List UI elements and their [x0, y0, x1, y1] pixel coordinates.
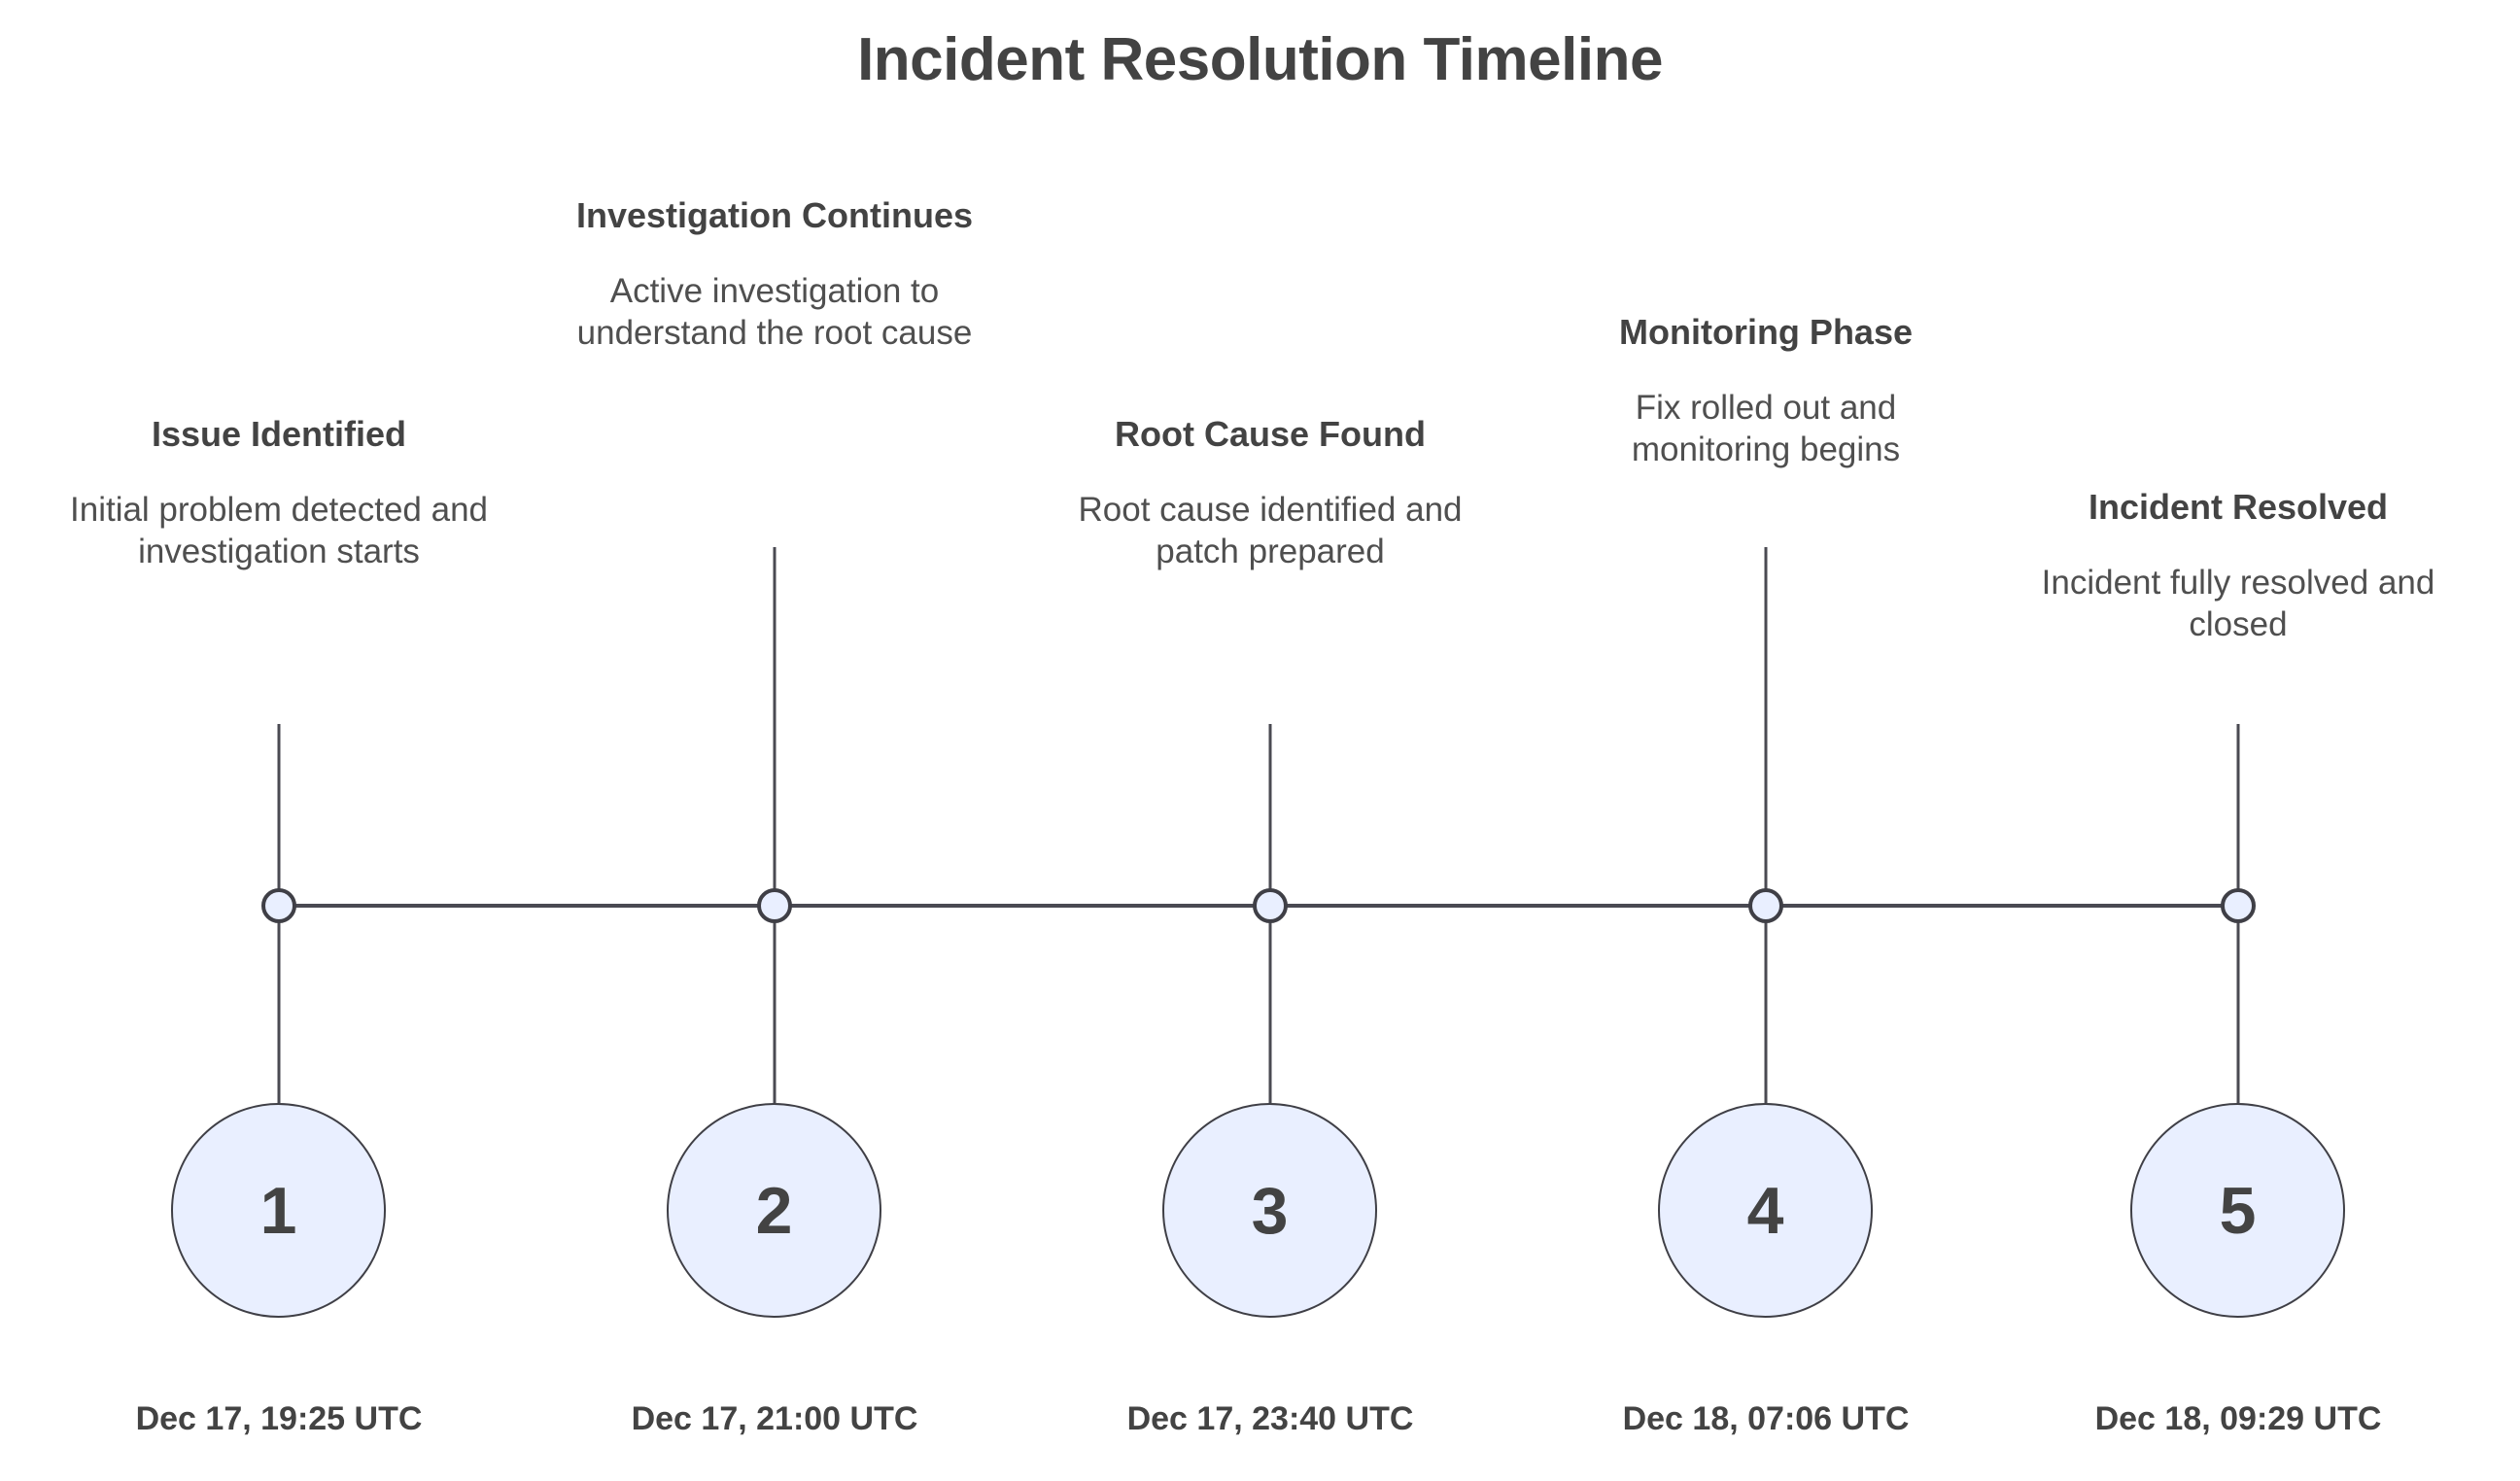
milestone-title-3: Root Cause Found — [1056, 413, 1484, 456]
milestone-number-circle-2[interactable]: 2 — [667, 1103, 881, 1318]
timeline-node-1[interactable] — [263, 890, 294, 921]
milestone-description-3: Root cause identified and patch prepared — [1056, 489, 1484, 572]
milestone-timestamp-5: Dec 18, 09:29 UTC — [2024, 1399, 2452, 1439]
timeline-node-2[interactable] — [759, 890, 790, 921]
milestone-number-4: 4 — [1747, 1178, 1784, 1244]
milestone-description-5: Incident fully resolved and closed — [2024, 562, 2452, 645]
milestone-text-1: Issue Identified Initial problem detecte… — [65, 413, 493, 572]
milestone-title-5: Incident Resolved — [2024, 486, 2452, 529]
timeline-node-4[interactable] — [1750, 890, 1781, 921]
milestone-timestamp-2: Dec 17, 21:00 UTC — [561, 1399, 988, 1439]
milestone-number-3: 3 — [1252, 1178, 1289, 1244]
milestone-number-circle-4[interactable]: 4 — [1658, 1103, 1873, 1318]
milestone-number-1: 1 — [260, 1178, 297, 1244]
milestone-number-circle-3[interactable]: 3 — [1162, 1103, 1377, 1318]
milestone-description-1: Initial problem detected and investigati… — [65, 489, 493, 572]
milestone-number-circle-5[interactable]: 5 — [2130, 1103, 2345, 1318]
milestone-text-4: Monitoring Phase Fix rolled out and moni… — [1552, 311, 1980, 470]
timeline-canvas: Incident Resolution Timeline Issue Ident… — [0, 0, 2520, 1481]
milestone-number-5: 5 — [2220, 1178, 2257, 1244]
milestone-text-3: Root Cause Found Root cause identified a… — [1056, 413, 1484, 572]
milestone-timestamp-3: Dec 17, 23:40 UTC — [1056, 1399, 1484, 1439]
milestone-description-4: Fix rolled out and monitoring begins — [1552, 387, 1980, 470]
milestone-title-4: Monitoring Phase — [1552, 311, 1980, 354]
milestone-text-2: Investigation Continues Active investiga… — [561, 194, 988, 354]
milestone-number-2: 2 — [756, 1178, 793, 1244]
timeline-node-3[interactable] — [1255, 890, 1286, 921]
milestone-title-1: Issue Identified — [65, 413, 493, 456]
milestone-timestamp-4: Dec 18, 07:06 UTC — [1552, 1399, 1980, 1439]
milestone-timestamp-1: Dec 17, 19:25 UTC — [65, 1399, 493, 1439]
timeline-node-5[interactable] — [2223, 890, 2254, 921]
milestone-number-circle-1[interactable]: 1 — [171, 1103, 386, 1318]
milestone-text-5: Incident Resolved Incident fully resolve… — [2024, 486, 2452, 645]
milestone-description-2: Active investigation to understand the r… — [561, 270, 988, 354]
milestone-title-2: Investigation Continues — [561, 194, 988, 237]
